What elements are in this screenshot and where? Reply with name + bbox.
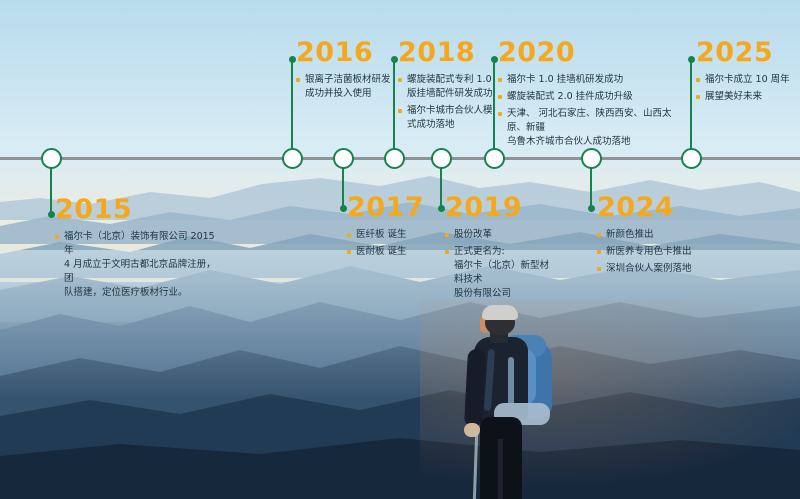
year-label-2019: 2019 <box>445 193 555 223</box>
backpack-strap-right <box>508 357 514 405</box>
milestone-item: 新医养专用色卡推出 <box>597 245 717 259</box>
milestone-item: 螺旋装配式 2.0 挂件成功升级 <box>498 90 678 104</box>
timeline-entry-2015[interactable]: 2015福尔卡（北京）装饰有限公司 2015 年 4 月成立于文明古都北京品牌注… <box>55 195 225 303</box>
milestone-item: 福尔卡城市合伙人模 式成功落地 <box>398 104 494 132</box>
year-label-2020: 2020 <box>498 38 678 68</box>
milestone-list-2018: 螺旋装配式专利 1.0 版挂墙配件研发成功福尔卡城市合伙人模 式成功落地 <box>398 73 494 132</box>
timeline-stem-cap-2015 <box>48 211 55 218</box>
timeline-entry-2018[interactable]: 2018螺旋装配式专利 1.0 版挂墙配件研发成功福尔卡城市合伙人模 式成功落地 <box>398 38 494 135</box>
milestone-item: 福尔卡成立 10 周年 <box>696 73 796 87</box>
year-label-2024: 2024 <box>597 193 717 223</box>
milestone-list-2015: 福尔卡（北京）装饰有限公司 2015 年 4 月成立于文明古都北京品牌注册，团 … <box>55 230 225 300</box>
timeline-entry-2025[interactable]: 2025福尔卡成立 10 周年展望美好未来 <box>696 38 796 107</box>
timeline-entry-2020[interactable]: 2020福尔卡 1.0 挂墙机研发成功螺旋装配式 2.0 挂件成功升级天津、 河… <box>498 38 678 152</box>
timeline-stem-cap-2024 <box>588 205 595 212</box>
timeline-node-2025[interactable] <box>681 148 702 169</box>
milestone-list-2016: 银离子洁菌板材研发 成功并投入使用 <box>296 73 392 101</box>
milestone-item: 福尔卡（北京）装饰有限公司 2015 年 4 月成立于文明古都北京品牌注册，团 … <box>55 230 225 300</box>
timeline-node-2019[interactable] <box>431 148 452 169</box>
timeline-stem-cap-2025 <box>688 56 695 63</box>
timeline-node-2016[interactable] <box>282 148 303 169</box>
timeline-node-2018[interactable] <box>384 148 405 169</box>
milestone-item: 医纤板 诞生 <box>347 228 437 242</box>
milestone-item: 股份改革 <box>445 228 555 242</box>
timeline-stem-2020 <box>493 59 496 157</box>
timeline-stem-2025 <box>690 59 693 157</box>
milestone-item: 正式更名为: 福尔卡（北京）新型材料技术 股份有限公司 <box>445 245 555 301</box>
timeline-stem-cap-2018 <box>391 56 398 63</box>
year-label-2015: 2015 <box>55 195 225 225</box>
timeline-infographic: 2015福尔卡（北京）装饰有限公司 2015 年 4 月成立于文明古都北京品牌注… <box>0 0 800 499</box>
hiker-cap <box>482 305 518 320</box>
timeline-stem-cap-2020 <box>491 56 498 63</box>
milestone-list-2020: 福尔卡 1.0 挂墙机研发成功螺旋装配式 2.0 挂件成功升级天津、 河北石家庄… <box>498 73 678 149</box>
milestone-list-2017: 医纤板 诞生医耐板 诞生 <box>347 228 437 259</box>
milestone-item: 医耐板 诞生 <box>347 245 437 259</box>
milestone-item: 深圳合伙人案例落地 <box>597 262 717 276</box>
timeline-entry-2019[interactable]: 2019股份改革正式更名为: 福尔卡（北京）新型材料技术 股份有限公司 <box>445 193 555 304</box>
year-label-2017: 2017 <box>347 193 437 223</box>
timeline-node-2024[interactable] <box>581 148 602 169</box>
milestone-list-2019: 股份改革正式更名为: 福尔卡（北京）新型材料技术 股份有限公司 <box>445 228 555 301</box>
hiker-figure <box>430 305 570 499</box>
milestone-list-2024: 新颜色推出新医养专用色卡推出深圳合伙人案例落地 <box>597 228 717 276</box>
milestone-item: 展望美好未来 <box>696 90 796 104</box>
trekking-pole <box>473 431 479 499</box>
milestone-item: 银离子洁菌板材研发 成功并投入使用 <box>296 73 392 101</box>
timeline-stem-cap-2017 <box>340 205 347 212</box>
milestone-item: 福尔卡 1.0 挂墙机研发成功 <box>498 73 678 87</box>
timeline-stem-cap-2016 <box>289 56 296 63</box>
timeline-stem-cap-2019 <box>438 205 445 212</box>
timeline-stem-2016 <box>291 59 294 157</box>
milestone-item: 新颜色推出 <box>597 228 717 242</box>
timeline-entry-2017[interactable]: 2017医纤板 诞生医耐板 诞生 <box>347 193 437 262</box>
timeline-node-2015[interactable] <box>41 148 62 169</box>
year-label-2016: 2016 <box>296 38 392 68</box>
timeline-node-2017[interactable] <box>333 148 354 169</box>
year-label-2018: 2018 <box>398 38 494 68</box>
hiker-leg-split <box>498 439 503 499</box>
milestone-item: 螺旋装配式专利 1.0 版挂墙配件研发成功 <box>398 73 494 101</box>
timeline-stem-2018 <box>393 59 396 157</box>
year-label-2025: 2025 <box>696 38 796 68</box>
timeline-entry-2016[interactable]: 2016银离子洁菌板材研发 成功并投入使用 <box>296 38 392 104</box>
milestone-list-2025: 福尔卡成立 10 周年展望美好未来 <box>696 73 796 104</box>
timeline-node-2020[interactable] <box>484 148 505 169</box>
timeline-entry-2024[interactable]: 2024新颜色推出新医养专用色卡推出深圳合伙人案例落地 <box>597 193 717 279</box>
milestone-item: 天津、 河北石家庄、陕西西安、山西太原、新疆 乌鲁木齐城市合伙人成功落地 <box>498 107 678 149</box>
